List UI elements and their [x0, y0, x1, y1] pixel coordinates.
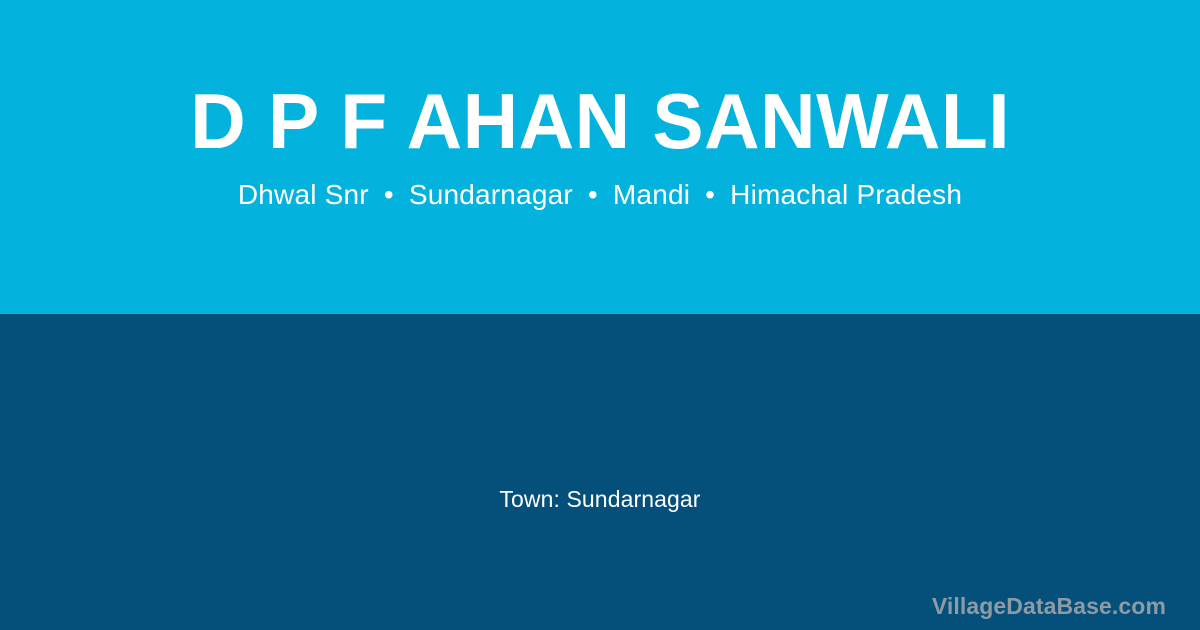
site-watermark: VillageDataBase.com — [932, 593, 1166, 621]
breadcrumb-item-state: Himachal Pradesh — [730, 179, 962, 210]
breadcrumb-item-village: Dhwal Snr — [238, 179, 369, 210]
breadcrumb-item-town: Sundarnagar — [409, 179, 573, 210]
breadcrumb-separator: • — [698, 178, 722, 212]
town-label: Town: Sundarnagar — [0, 486, 1200, 514]
breadcrumb-separator: • — [581, 178, 605, 212]
body-band: Town: Sundarnagar VillageDataBase.com — [0, 314, 1200, 630]
breadcrumb-separator: • — [377, 178, 401, 212]
page-title: D P F AHAN SANWALI — [190, 82, 1010, 160]
breadcrumb: Dhwal Snr • Sundarnagar • Mandi • Himach… — [238, 178, 962, 212]
header-band: D P F AHAN SANWALI Dhwal Snr • Sundarnag… — [0, 0, 1200, 314]
breadcrumb-item-district: Mandi — [613, 179, 690, 210]
info-card: D P F AHAN SANWALI Dhwal Snr • Sundarnag… — [0, 0, 1200, 630]
